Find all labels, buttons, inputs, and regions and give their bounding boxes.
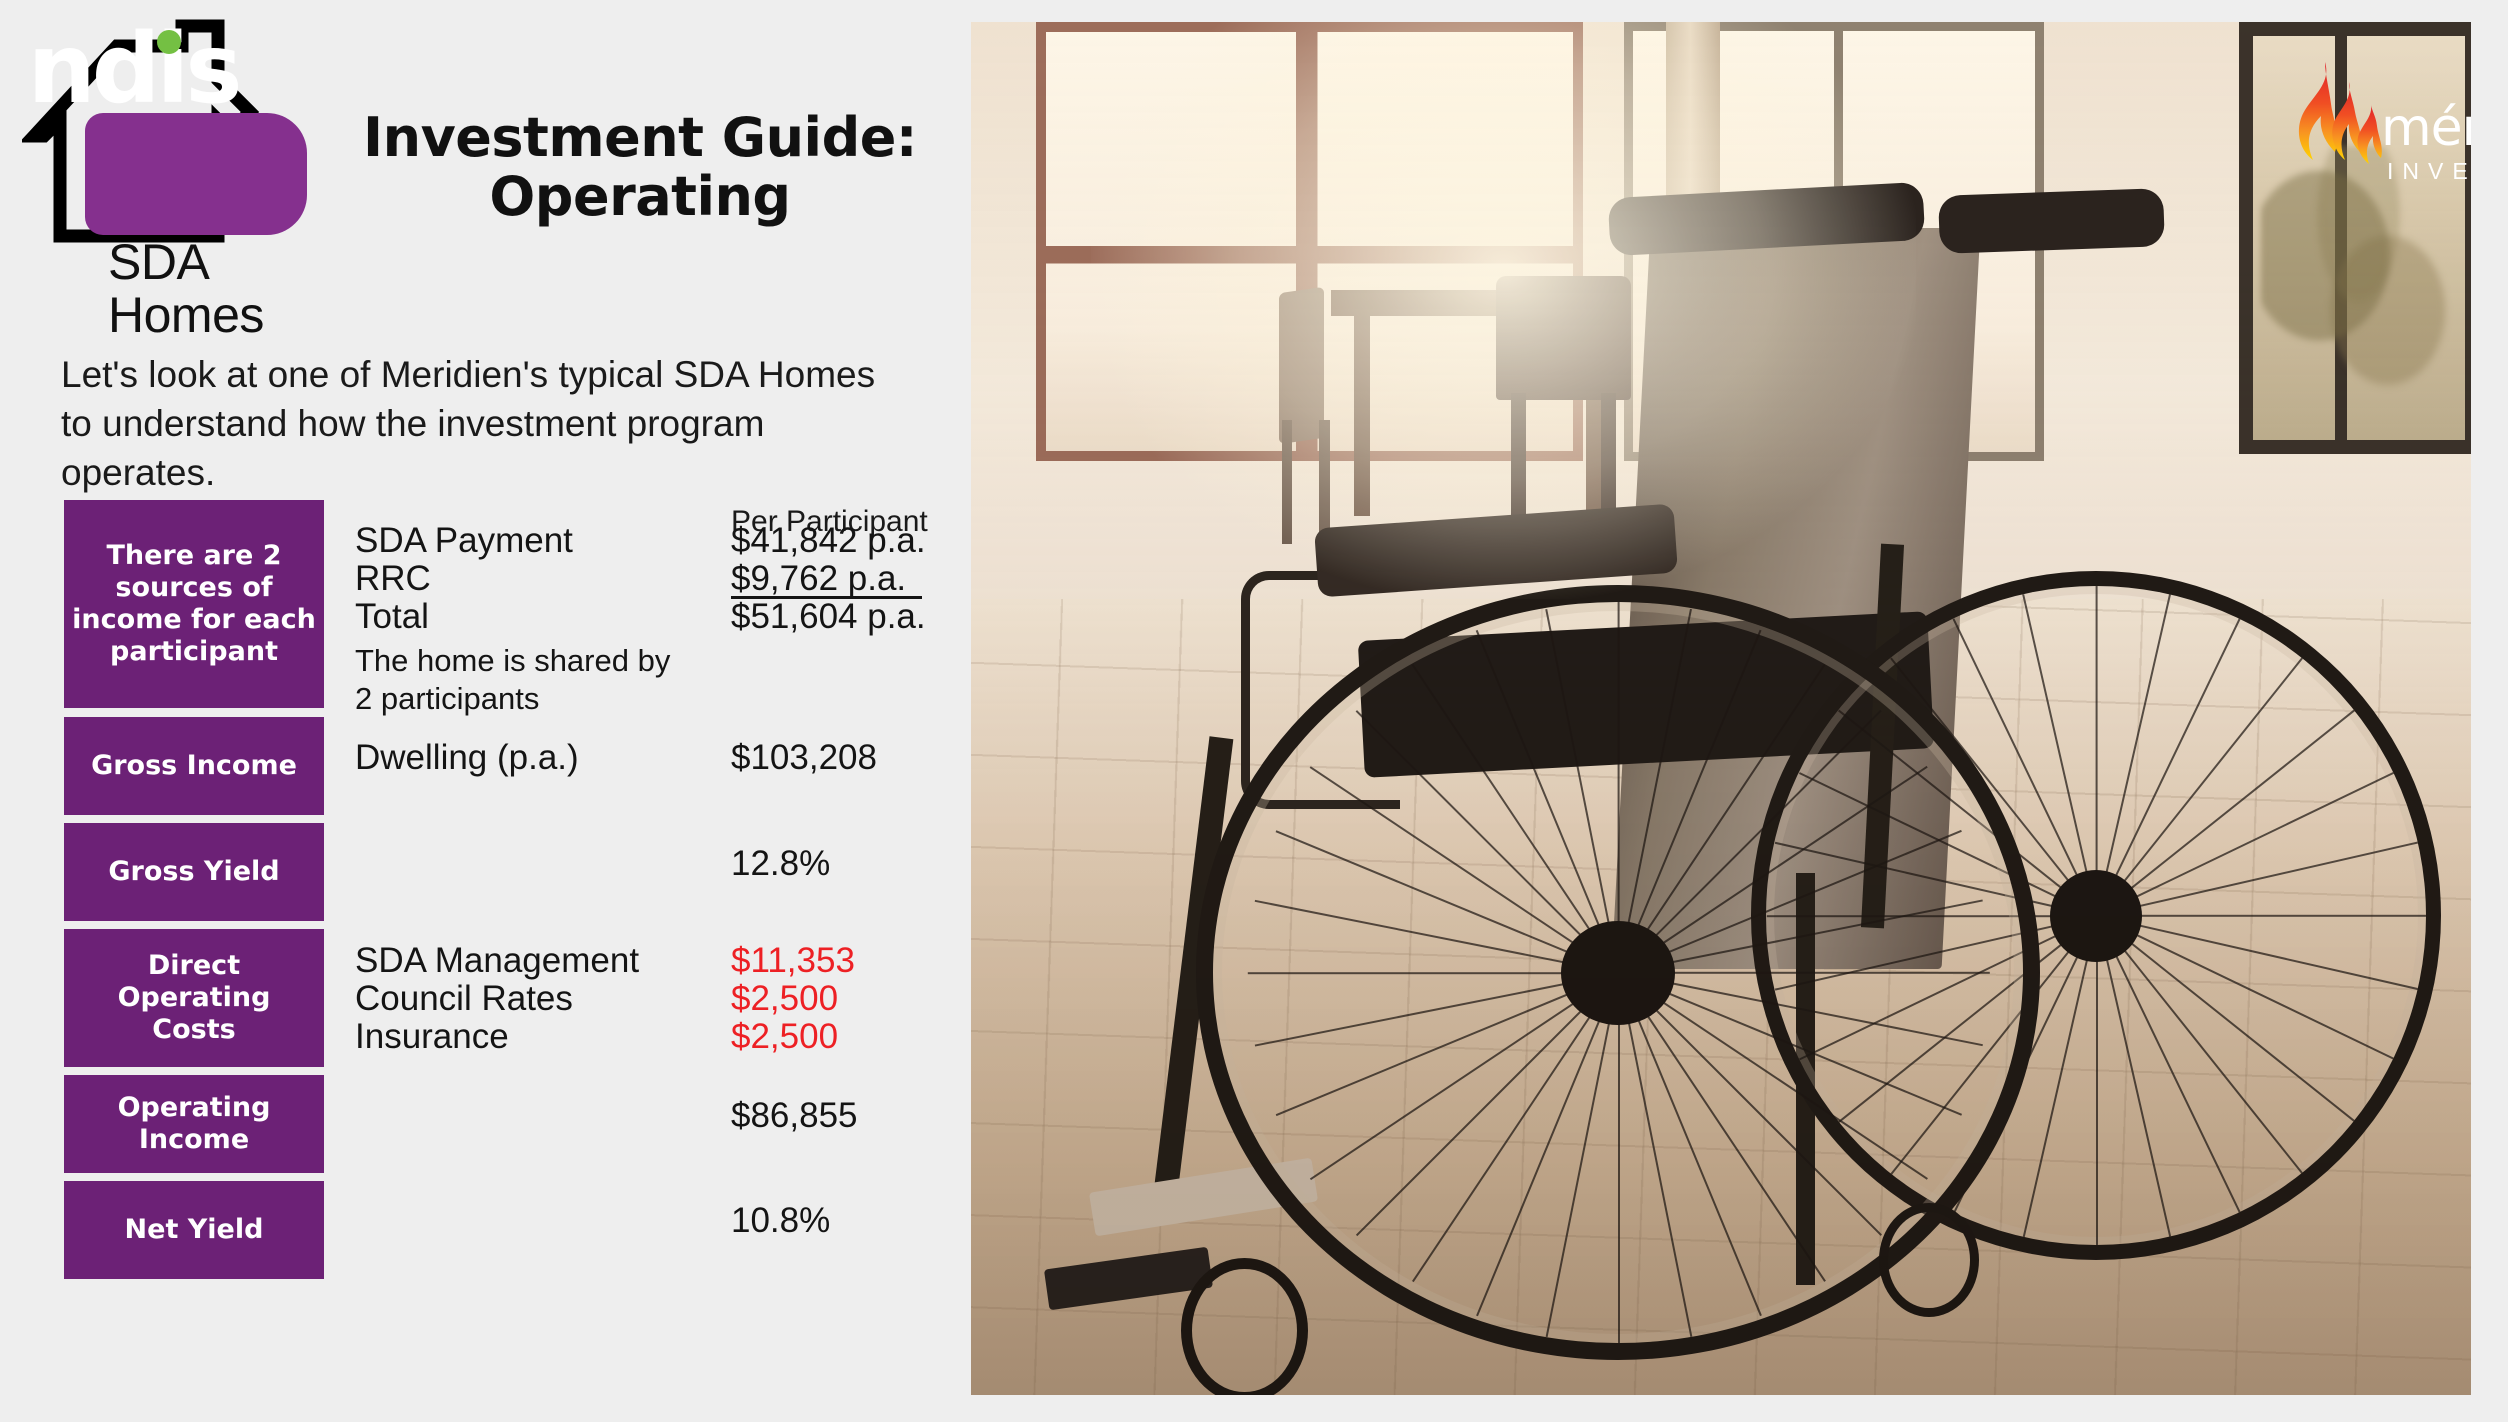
row-label: RRC — [355, 558, 431, 599]
row-category-label: Gross Yield — [108, 856, 279, 888]
row-label: Council Rates — [355, 978, 573, 1019]
ndis-badge — [85, 113, 307, 235]
row-value: $51,604 p.a. — [731, 596, 926, 637]
slide-canvas: ndis SDAHomes Investment Guide:Operating… — [0, 0, 2508, 1422]
row-category-box: Net Yield — [64, 1181, 324, 1279]
flame-icon — [2291, 60, 2386, 178]
ndis-wordmark: ndis — [22, 8, 244, 130]
row-value: $11,353 — [731, 940, 855, 981]
row-label: Total — [355, 596, 429, 637]
row-category-label: DirectOperatingCosts — [118, 950, 271, 1046]
meridien-invest-logo: méridien INVEST — [2291, 60, 2471, 185]
ndis-green-dot-icon — [157, 30, 181, 54]
meridien-subtitle: INVEST — [2387, 158, 2471, 185]
row-label: SDA Management — [355, 940, 639, 981]
row-value: $41,842 p.a. — [731, 520, 926, 561]
row-value: $2,500 — [731, 978, 838, 1019]
photo-sepia-overlay — [971, 22, 2471, 1395]
row-label: Dwelling (p.a.) — [355, 737, 579, 778]
row-value: $9,762 p.a. — [731, 558, 906, 599]
row-category-box: Gross Yield — [64, 823, 324, 921]
row-note: The home is shared by2 participants — [355, 642, 670, 718]
ndis-logo-subtitle: SDAHomes — [108, 236, 264, 342]
row-category-label: There are 2sources ofincome for eachpart… — [72, 540, 316, 668]
row-category-box: Gross Income — [64, 717, 324, 815]
row-value: $86,855 — [731, 1095, 858, 1136]
row-value: 10.8% — [731, 1200, 830, 1241]
meridien-wordmark: méridien — [2381, 102, 2471, 154]
row-category-label: OperatingIncome — [118, 1092, 271, 1156]
row-category-box: OperatingIncome — [64, 1075, 324, 1173]
row-category-box: There are 2sources ofincome for eachpart… — [64, 500, 324, 708]
row-label: SDA Payment — [355, 520, 573, 561]
row-category-box: DirectOperatingCosts — [64, 929, 324, 1067]
row-value: $2,500 — [731, 1016, 838, 1057]
hero-photo: méridien INVEST — [971, 22, 2471, 1395]
row-category-label: Gross Income — [91, 750, 297, 782]
row-value: 12.8% — [731, 843, 830, 884]
row-label: Insurance — [355, 1016, 509, 1057]
row-category-label: Net Yield — [125, 1214, 264, 1246]
row-value: $103,208 — [731, 737, 877, 778]
